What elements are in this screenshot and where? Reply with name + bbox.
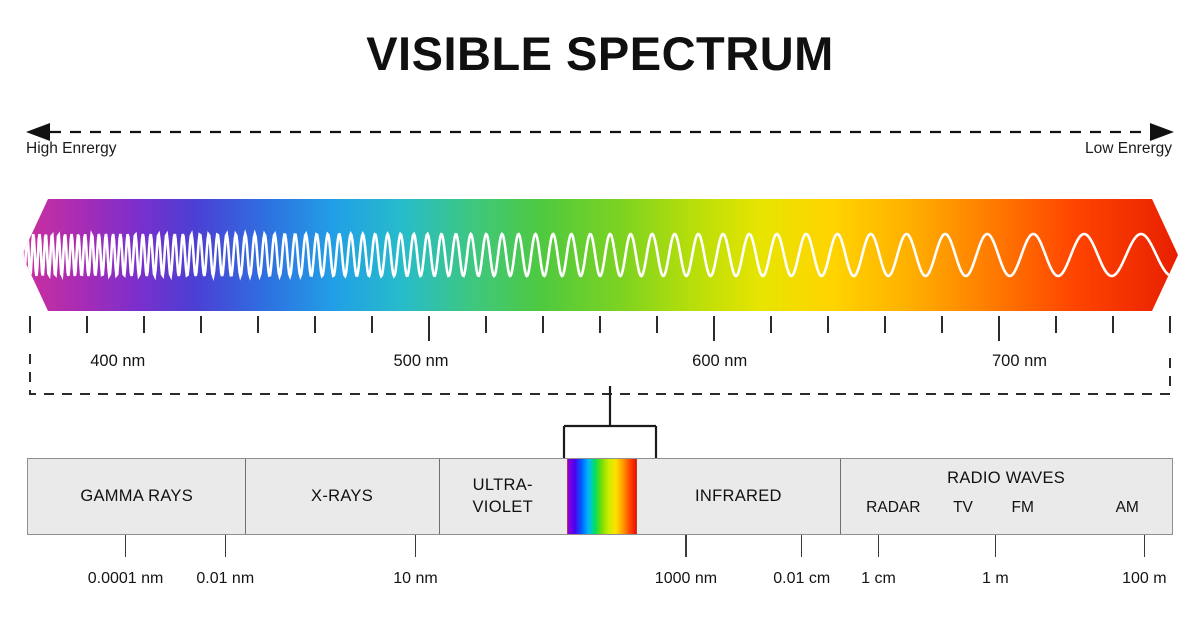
em-cell-x-rays: X-RAYS xyxy=(245,459,438,534)
em-cell-radio-waves: RADIO WAVESRADARTVFMAM xyxy=(840,459,1172,534)
ruler-tick-minor xyxy=(1055,316,1057,333)
em-spectrum-bar: GAMMA RAYSX-RAYSULTRA- VIOLETINFRAREDRAD… xyxy=(27,458,1173,535)
em-cell-visible-light xyxy=(567,459,637,534)
page-title: VISIBLE SPECTRUM xyxy=(0,26,1200,81)
em-scale-tick xyxy=(1144,535,1145,557)
em-scale-label: 1000 nm xyxy=(655,570,717,588)
ruler-tick-major xyxy=(713,316,715,341)
em-cell-infrared: INFRARED xyxy=(637,459,841,534)
em-cell-divider xyxy=(840,459,841,534)
ruler-tick-minor xyxy=(827,316,829,333)
ruler-tick-minor xyxy=(599,316,601,333)
em-scale-tick xyxy=(878,535,879,557)
em-scale-tick xyxy=(225,535,226,557)
em-cell-gamma-rays: GAMMA RAYS xyxy=(28,459,245,534)
em-scale-label: 1 m xyxy=(982,570,1009,588)
em-cell-label: X-RAYS xyxy=(311,486,373,508)
em-cell-divider xyxy=(245,459,246,534)
em-cell-ultra-violet: ULTRA- VIOLET xyxy=(439,459,567,534)
ruler-tick-minor xyxy=(257,316,259,333)
ruler-tick-major xyxy=(428,316,430,341)
em-scale-label: 10 nm xyxy=(393,570,437,588)
radio-sub-label: TV xyxy=(953,499,973,517)
em-scale-label: 100 m xyxy=(1122,570,1166,588)
em-scale-tick xyxy=(415,535,416,557)
ruler-tick-minor xyxy=(542,316,544,333)
em-scale-tick xyxy=(995,535,996,557)
radio-sub-label: RADAR xyxy=(866,499,920,517)
energy-axis-line xyxy=(0,118,1200,146)
visible-spectrum-band xyxy=(22,199,1178,311)
em-scale-label: 0.01 nm xyxy=(196,570,254,588)
arrow-right-icon xyxy=(1150,123,1174,141)
visible-band-connector xyxy=(520,386,700,462)
em-scale-labels: 0.0001 nm0.01 nm10 nm1000 nm0.01 cm1 cm1… xyxy=(0,570,1200,594)
spectrum-band-svg xyxy=(22,199,1178,311)
em-scale-label: 1 cm xyxy=(861,570,896,588)
em-scale-ticks xyxy=(0,535,1200,559)
ruler-tick-minor xyxy=(1169,316,1171,333)
em-cell-label: GAMMA RAYS xyxy=(80,486,193,508)
ruler-tick-minor xyxy=(770,316,772,333)
em-cell-divider xyxy=(439,459,440,534)
em-cell-label: ULTRA- VIOLET xyxy=(473,475,534,519)
em-scale-tick xyxy=(685,535,686,557)
em-cell-label: RADIO WAVES xyxy=(947,469,1065,488)
radio-sub-label: FM xyxy=(1011,499,1033,517)
ruler-tick-minor xyxy=(314,316,316,333)
ruler-tick-minor xyxy=(884,316,886,333)
em-scale-label: 0.01 cm xyxy=(773,570,830,588)
energy-axis: High Enrergy Low Enrergy xyxy=(0,118,1200,178)
em-scale-label: 0.0001 nm xyxy=(88,570,164,588)
spectrum-infographic: VISIBLE SPECTRUM High Enrergy Low Enrerg… xyxy=(0,0,1200,627)
ruler-tick-minor xyxy=(941,316,943,333)
radio-sub-label: AM xyxy=(1116,499,1139,517)
em-cell-label: INFRARED xyxy=(695,486,782,508)
ruler-tick-minor xyxy=(86,316,88,333)
arrow-left-icon xyxy=(26,123,50,141)
ruler-tick-minor xyxy=(485,316,487,333)
low-energy-label: Low Enrergy xyxy=(1085,140,1172,158)
ruler-tick-major xyxy=(998,316,1000,341)
ruler-tick-minor xyxy=(29,316,31,333)
ruler-tick-minor xyxy=(1112,316,1114,333)
wavelength-ruler xyxy=(0,316,1200,342)
ruler-tick-minor xyxy=(200,316,202,333)
ruler-tick-minor xyxy=(143,316,145,333)
high-energy-label: High Enrergy xyxy=(26,140,116,158)
ruler-tick-minor xyxy=(656,316,658,333)
ruler-tick-minor xyxy=(371,316,373,333)
radio-sub-labels: RADARTVFMAM xyxy=(840,499,1172,527)
em-scale-tick xyxy=(801,535,802,557)
em-scale-tick xyxy=(125,535,126,557)
